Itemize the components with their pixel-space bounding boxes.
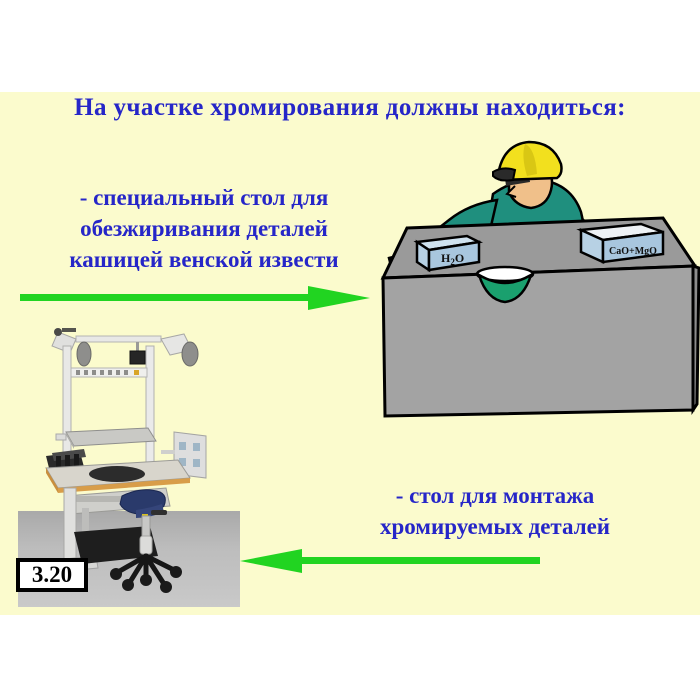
callout-left-line1: - специальный стол для [8, 182, 400, 213]
box-cao-mgo: CaO+MgO [581, 224, 663, 262]
callout-right-line1: - стол для монтажа [300, 480, 690, 511]
svg-text:CaO+MgO: CaO+MgO [609, 246, 657, 257]
callout-right-line2: хромируемых деталей [300, 511, 690, 542]
arrow-right-icon [20, 285, 370, 311]
callout-left-text: - специальный стол для обезжиривания дет… [8, 182, 400, 275]
callout-right-text: - стол для монтажа хромируемых деталей [300, 480, 690, 542]
callout-left-line2: обезжиривания деталей [8, 213, 400, 244]
page-title: На участке хромирования должны находитьс… [0, 94, 700, 122]
slide-canvas: На участке хромирования должны находитьс… [0, 0, 700, 700]
callout-left-line3: кашицей венской извести [8, 244, 400, 275]
degreasing-table-illustration: H2O CaO+MgO [375, 128, 700, 428]
arrow-left-icon [240, 548, 540, 574]
slide-number-badge: 3.20 [16, 558, 88, 592]
